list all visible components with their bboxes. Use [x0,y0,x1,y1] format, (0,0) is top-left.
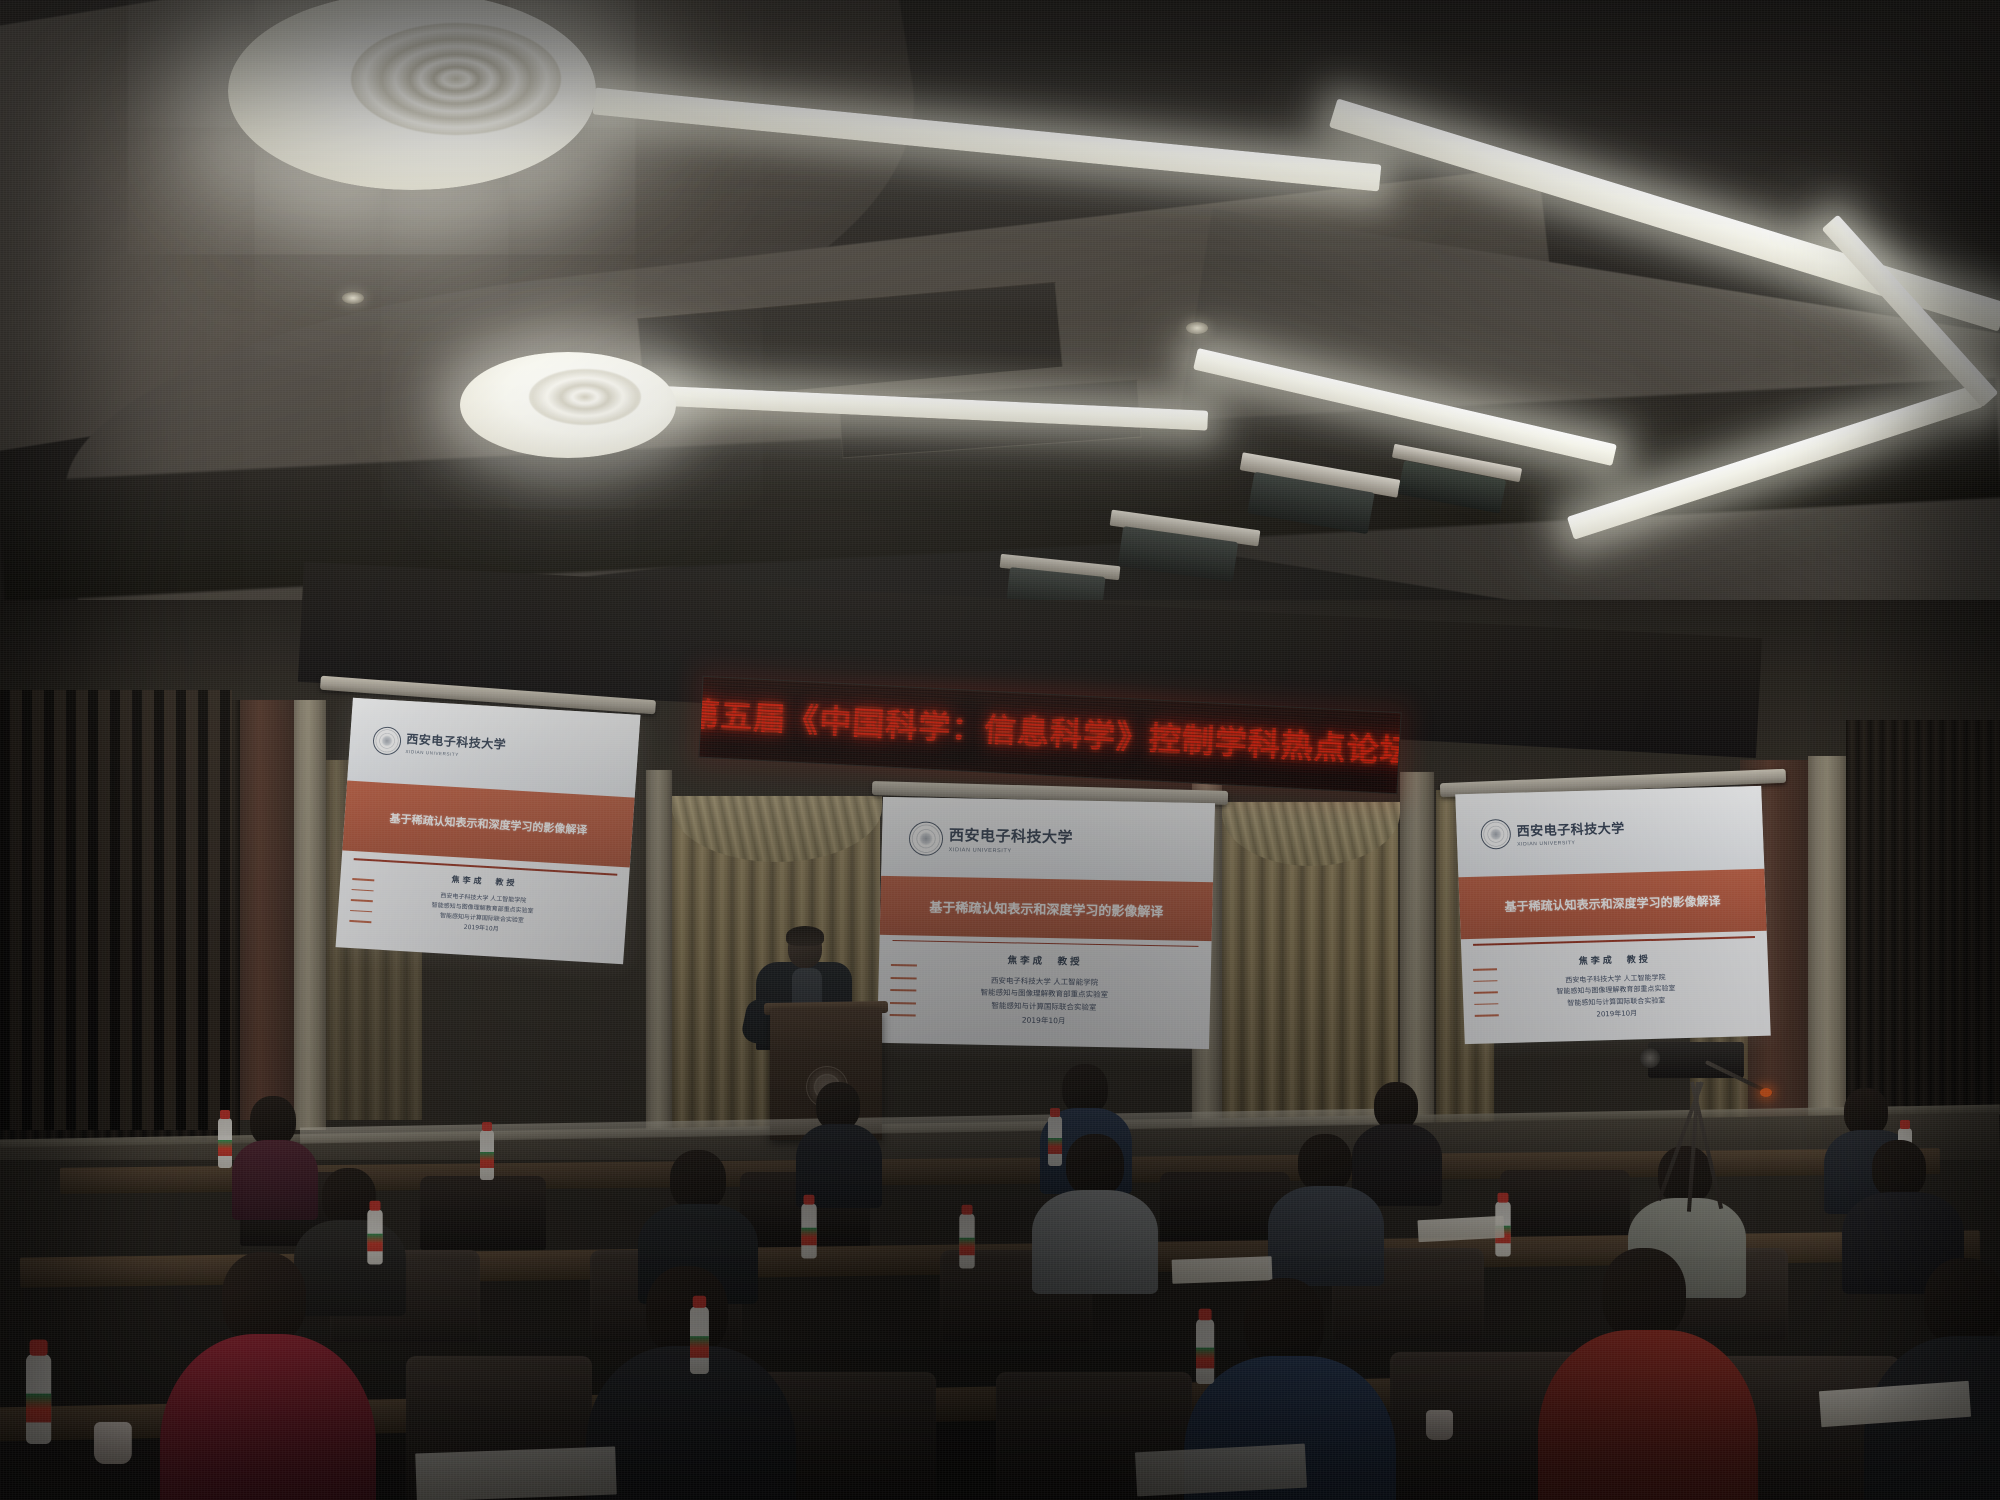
p-body [1538,1330,1758,1500]
water-bottle-2 [480,1130,494,1180]
p-head [1844,1088,1888,1136]
p-head [1244,1278,1324,1366]
dome-light-rings [351,23,561,135]
water-bottle-9 [26,1354,51,1444]
p-head [222,1252,306,1344]
p-head [1602,1248,1686,1340]
center-slide-presenter: 焦李成 教授 [1007,952,1082,967]
right-screen: 西安电子科技大学 XIDIAN UNIVERSITY 基于稀疏认知表示和深度学习… [1448,790,1778,1060]
center-slide-header: 西安电子科技大学 XIDIAN UNIVERSITY [881,797,1215,885]
center-slide-university: 西安电子科技大学 XIDIAN UNIVERSITY [949,824,1074,855]
left-slide-logo: 西安电子科技大学 XIDIAN UNIVERSITY [372,726,502,762]
center-slide-affil-3: 智能感知与计算国际联合实验室 [991,1000,1096,1015]
university-seal-icon [908,821,943,856]
conference-hall-photo: 第五届《中国科学：信息科学》控制学科热点论坛 西安电子科技大学 XIDIAN U… [0,0,2000,1500]
right-slide-presenter: 焦李成 教授 [1578,951,1650,966]
left-slide-university: 西安电子科技大学 XIDIAN UNIVERSITY [405,730,507,760]
side-wall-velvet-right [1846,720,2000,1150]
right-screen-slide: 西安电子科技大学 XIDIAN UNIVERSITY 基于稀疏认知表示和深度学习… [1455,786,1770,1044]
university-name-en: XIDIAN UNIVERSITY [1517,838,1625,847]
water-bottle-5 [367,1210,382,1265]
wall-curtain-left [0,690,232,1130]
dome-light-secondary-icon [460,352,676,458]
left-slide-presenter: 焦李成 教授 [451,874,518,889]
center-slide-rule [893,940,1198,947]
water-bottle-11 [1196,1319,1214,1384]
wall-pillar-far-right [1808,756,1848,1146]
right-slide-title-band: 基于稀疏认知表示和深度学习的影像解译 [1458,868,1766,939]
left-screen-slide: 西安电子科技大学 XIDIAN UNIVERSITY 基于稀疏认知表示和深度学习… [336,698,641,964]
water-bottle-1 [218,1118,232,1168]
handout-paper-1 [1417,1216,1504,1242]
p-body [1268,1186,1384,1286]
seat-r1-2 [420,1176,546,1250]
center-screen: 西安电子科技大学 XIDIAN UNIVERSITY 基于稀疏认知表示和深度学习… [880,800,1220,1060]
water-bottle-7 [959,1214,974,1269]
p-body [294,1220,406,1316]
water-bottle-6 [801,1204,816,1259]
p-head [1924,1258,2000,1346]
center-slide-title: 基于稀疏认知表示和深度学习的影像解译 [929,896,1163,919]
university-seal-icon [1481,819,1512,850]
university-name-cn: 西安电子科技大学 [949,824,1074,847]
downlight-1 [342,292,364,304]
center-slide-body: 焦李成 教授 西安电子科技大学 人工智能学院 智能感知与图像理解教育部重点实验室… [877,949,1211,1031]
paper-cup-2 [1426,1410,1453,1440]
p-head [1066,1134,1124,1196]
p-head [1872,1140,1926,1198]
right-slide-university: 西安电子科技大学 XIDIAN UNIVERSITY [1516,817,1625,847]
p-head [816,1082,860,1130]
handout-paper-4 [415,1447,617,1500]
camera-lens-icon [1640,1048,1660,1068]
center-slide-date: 2019年10月 [1022,1013,1066,1028]
p-body [1032,1190,1158,1294]
university-name-en: XIDIAN UNIVERSITY [949,847,1073,855]
right-slide-date: 2019年10月 [1596,1008,1637,1022]
university-name-cn: 西安电子科技大学 [1516,817,1625,839]
water-bottle-10 [690,1307,709,1375]
left-slide-body: 焦李成 教授 西安电子科技大学 人工智能学院 智能感知与图像理解教育部重点实验室… [337,867,629,942]
wall-pillar-left-dark [236,700,294,1120]
p-head [1298,1134,1352,1192]
center-screen-slide: 西安电子科技大学 XIDIAN UNIVERSITY 基于稀疏认知表示和深度学习… [877,797,1215,1049]
water-bottle-3 [1048,1116,1062,1166]
p-head [1062,1064,1108,1114]
p-body [232,1140,318,1220]
right-slide-title: 基于稀疏认知表示和深度学习的影像解译 [1504,892,1721,915]
p-head [250,1096,296,1146]
left-slide-title: 基于稀疏认知表示和深度学习的影像解译 [389,810,588,838]
right-slide-body: 焦李成 教授 西安电子科技大学 人工智能学院 智能感知与图像理解教育部重点实验室… [1461,948,1770,1025]
right-slide-header: 西安电子科技大学 XIDIAN UNIVERSITY [1455,786,1764,877]
equipment-status-led [1760,1088,1772,1097]
dome-light-rings-secondary [529,369,641,425]
p-head [670,1150,726,1210]
downlight-2 [1186,322,1208,334]
left-screen: 西安电子科技大学 XIDIAN UNIVERSITY 基于稀疏认知表示和深度学习… [326,700,646,980]
p-head [1374,1082,1418,1130]
center-slide-logo: 西安电子科技大学 XIDIAN UNIVERSITY [908,821,1067,858]
handout-paper-3 [1135,1444,1307,1497]
dome-light-icon [228,0,596,190]
wall-pillar-left [292,700,326,1130]
right-slide-logo: 西安电子科技大学 XIDIAN UNIVERSITY [1481,816,1620,850]
handout-paper-2 [1172,1256,1273,1283]
university-seal-icon [372,726,402,756]
led-banner-text: 第五届《中国科学：信息科学》控制学科热点论坛 [698,698,1401,772]
wall-pillar-center-left [646,770,672,1130]
paper-cup-1 [94,1422,132,1464]
speaker-hair [786,926,824,946]
center-slide-title-band: 基于稀疏认知表示和深度学习的影像解译 [880,876,1213,941]
left-slide-date: 2019年10月 [463,922,499,935]
p-head [646,1266,728,1356]
